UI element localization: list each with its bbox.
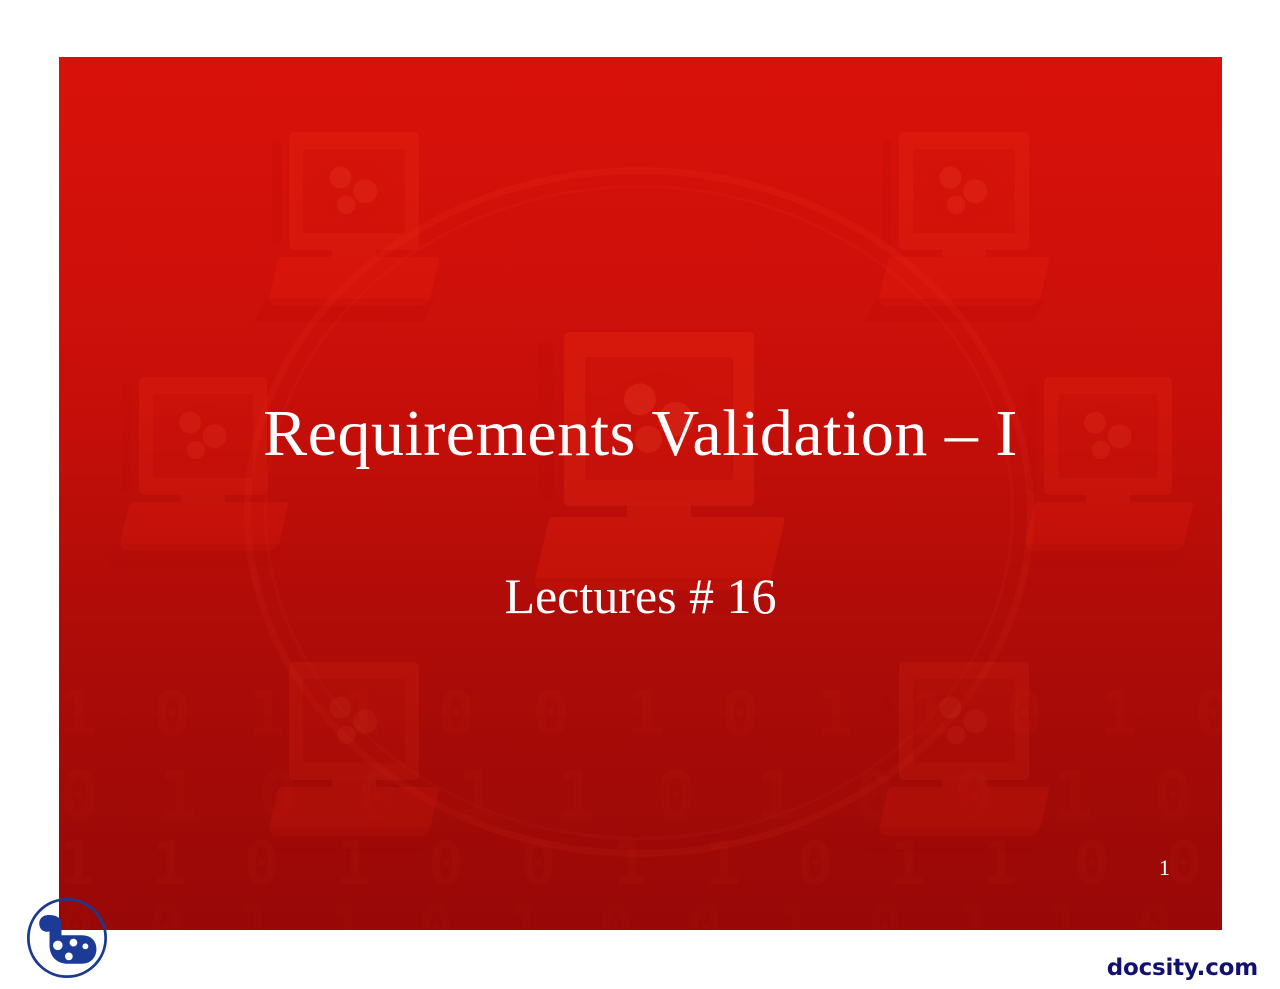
slide-subtitle: Lectures # 16 xyxy=(59,567,1222,625)
docsity-logo-icon[interactable] xyxy=(21,892,113,984)
slide-title: Requirements Validation – I xyxy=(59,395,1222,473)
slide-page-number: 1 xyxy=(1159,857,1170,879)
presentation-slide: 1 0 1 1 0 0 1 0 1 1 0 1 0 0 1 1 0 1 0 0 … xyxy=(59,57,1222,930)
docsity-wordmark[interactable]: docsity.com xyxy=(1107,955,1258,981)
slide-text-layer: Requirements Validation – I Lectures # 1… xyxy=(59,57,1222,930)
